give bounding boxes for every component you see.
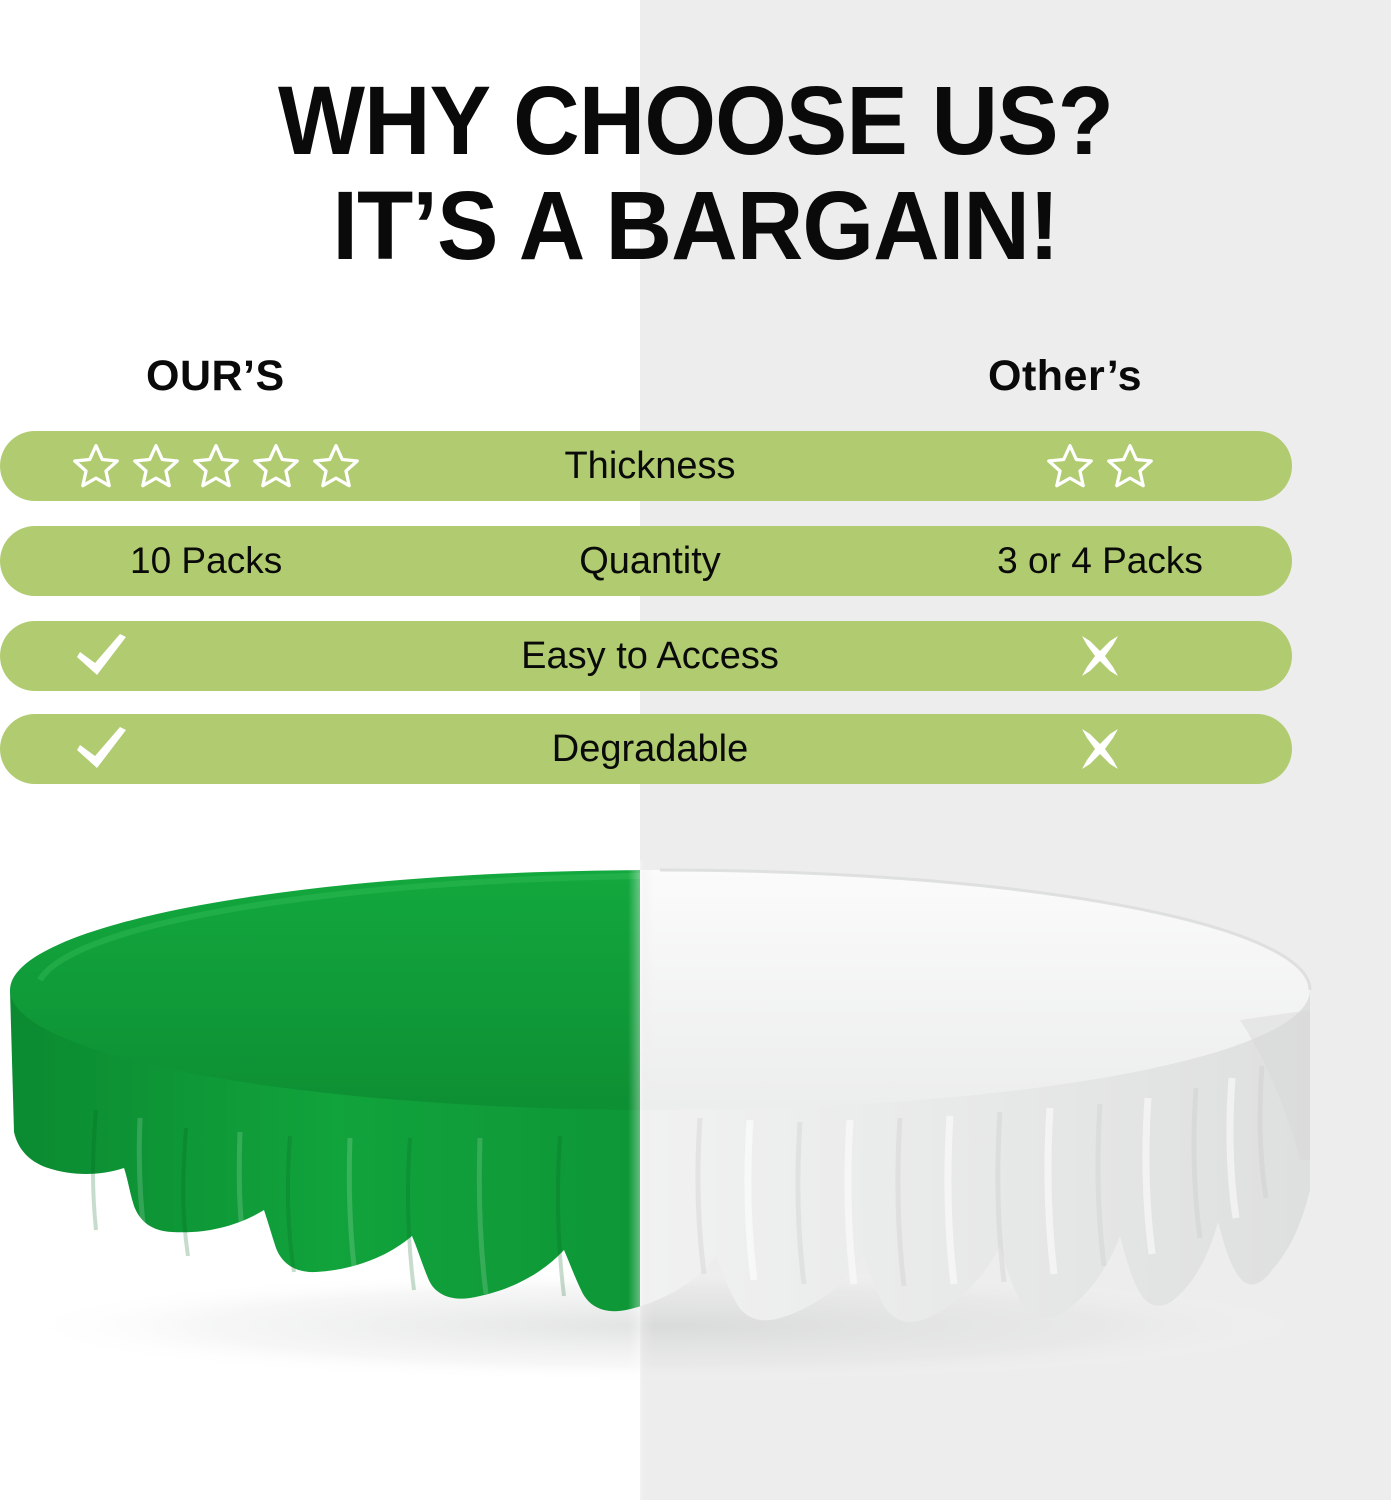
comparison-row-degradable: Degradable <box>0 714 1292 784</box>
column-header-other: Other’s <box>988 352 1142 401</box>
star-outline-icon <box>1104 440 1156 492</box>
star-outline-icon <box>1044 440 1096 492</box>
ours-quantity-text: 10 Packs <box>130 540 282 582</box>
star-rating-ours <box>70 440 362 492</box>
cross-icon <box>1074 723 1126 775</box>
star-outline-icon <box>310 440 362 492</box>
feature-label: Quantity <box>579 540 721 583</box>
other-value-easy-to-access <box>930 621 1270 691</box>
comparison-row-thickness: Thickness <box>0 431 1292 501</box>
other-quantity-text: 3 or 4 Packs <box>997 540 1203 582</box>
other-value-thickness <box>930 431 1270 501</box>
comparison-infographic: WHY CHOOSE US? IT’S A BARGAIN! OUR’S Oth… <box>0 0 1391 1500</box>
star-outline-icon <box>70 440 122 492</box>
feature-label-cell: Degradable <box>380 714 920 784</box>
feature-label: Thickness <box>564 445 735 488</box>
star-rating-other <box>1044 440 1156 492</box>
check-icon <box>70 628 132 684</box>
column-header-ours: OUR’S <box>146 352 285 401</box>
headline-line-1: WHY CHOOSE US? <box>35 72 1356 171</box>
other-value-degradable <box>930 714 1270 784</box>
other-value-quantity: 3 or 4 Packs <box>930 526 1270 596</box>
check-icon <box>70 721 132 777</box>
star-outline-icon <box>250 440 302 492</box>
cross-icon <box>1074 630 1126 682</box>
feature-label: Easy to Access <box>521 635 779 678</box>
feature-label-cell: Quantity <box>380 526 920 596</box>
headline-line-2: IT’S A BARGAIN! <box>35 177 1356 276</box>
feature-label-cell: Thickness <box>380 431 920 501</box>
feature-label-cell: Easy to Access <box>380 621 920 691</box>
comparison-row-easy-to-access: Easy to Access <box>0 621 1292 691</box>
comparison-row-quantity: 10 Packs Quantity 3 or 4 Packs <box>0 526 1292 596</box>
star-outline-icon <box>130 440 182 492</box>
star-outline-icon <box>190 440 242 492</box>
headline: WHY CHOOSE US? IT’S A BARGAIN! <box>0 72 1391 276</box>
feature-label: Degradable <box>552 728 748 771</box>
